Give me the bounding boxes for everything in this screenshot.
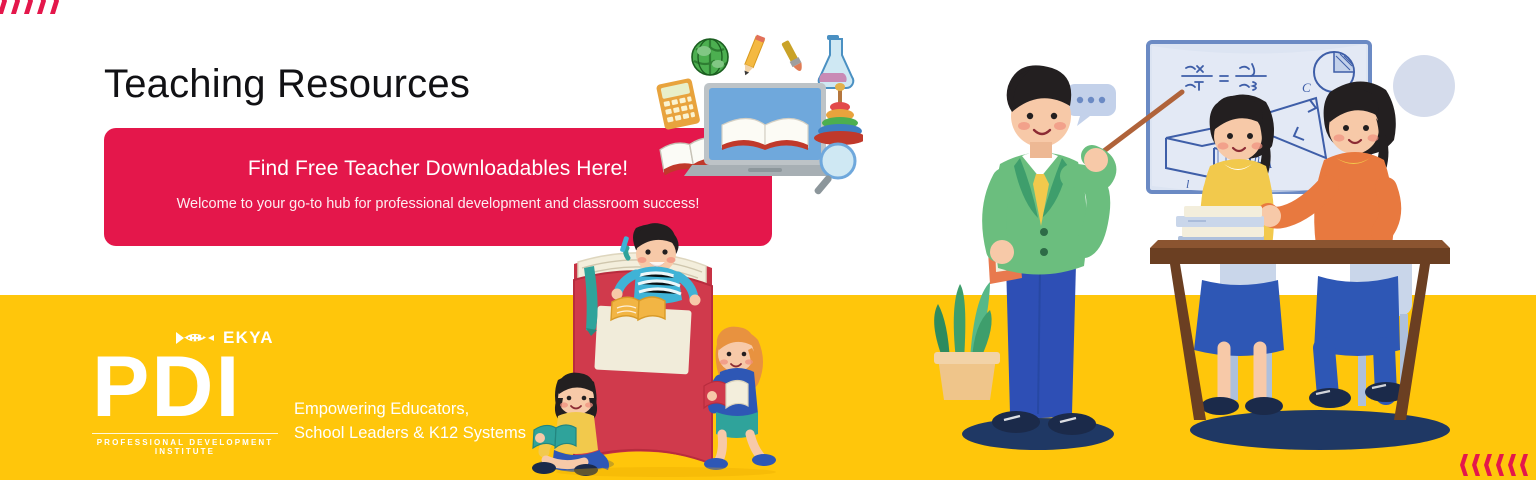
- chevron-left-icon: [1484, 454, 1492, 476]
- paintbrush-icon: [780, 39, 804, 73]
- chevron-right-icon: [37, 0, 46, 14]
- pdi-logo-lockup: EKYA PDI PROFESSIONAL DEVELOPMENT INSTIT…: [92, 328, 526, 456]
- svg-text:C: C: [1302, 80, 1311, 95]
- book-kids-illustration: [516, 222, 806, 480]
- pdi-expansion: PROFESSIONAL DEVELOPMENT INSTITUTE: [92, 438, 278, 456]
- chevron-right-icon: [0, 0, 7, 14]
- top-left-chevron-decoration: [0, 0, 63, 14]
- potted-plant: [934, 282, 1000, 400]
- globe-icon: [692, 39, 728, 75]
- speech-bubble: [1066, 84, 1116, 126]
- calculator-icon: [656, 78, 701, 130]
- chevron-right-icon: [11, 0, 20, 14]
- chevron-right-icon: [50, 0, 59, 14]
- pdi-row: PDI PROFESSIONAL DEVELOPMENT INSTITUTE E…: [92, 346, 526, 456]
- chevron-right-icon: [24, 0, 33, 14]
- girl-walking-with-book: [704, 327, 776, 470]
- teaching-resources-banner: Teaching Resources Find Free Teacher Dow…: [0, 0, 1536, 480]
- flask-icon: [819, 35, 854, 88]
- chevron-left-icon: [1496, 454, 1504, 476]
- page-title: Teaching Resources: [104, 62, 470, 107]
- supplies-illustration: [648, 33, 863, 213]
- pdi-acronym: PDI: [92, 346, 278, 429]
- classroom-illustration: C B A h w l: [920, 30, 1480, 475]
- pencil-icon: [741, 35, 765, 77]
- logo-tagline: Empowering Educators, School Leaders & K…: [294, 398, 526, 456]
- yellow-open-book: [611, 297, 665, 320]
- chevron-left-icon: [1508, 454, 1516, 476]
- chevron-left-icon: [1520, 454, 1528, 476]
